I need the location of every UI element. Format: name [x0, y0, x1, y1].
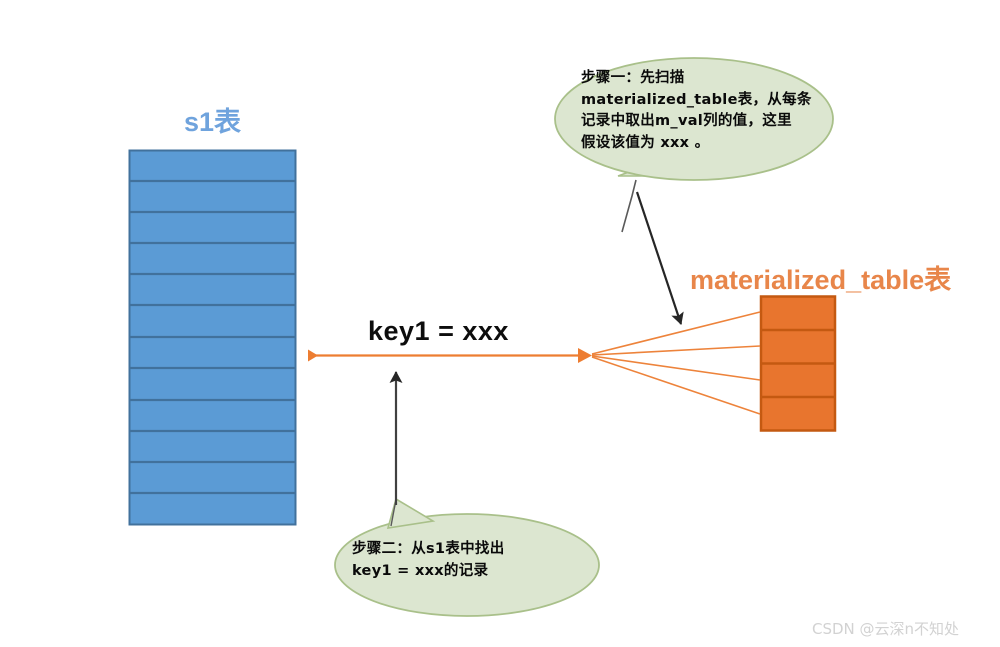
- table-s1-title: s1表: [129, 100, 296, 139]
- watermark: CSDN @云深n不知处: [812, 618, 959, 639]
- table-materialized: [761, 297, 835, 431]
- callout-step-one-text: 步骤一：先扫描 materialized_table表，从每条 记录中取出m_v…: [581, 68, 812, 154]
- diagram-canvas: s1表 materialized_table表 key1 = xxx 步骤一：先…: [0, 0, 1000, 647]
- orange-fan-lines: [592, 312, 760, 414]
- orange-relation-arrow: [308, 348, 592, 363]
- black-arrow-step-one: [637, 192, 681, 324]
- callout-step-two-text: 步骤二：从s1表中找出 key1 = xxx的记录: [352, 539, 505, 582]
- table-s1: [130, 151, 296, 525]
- table-materialized-title: materialized_table表: [690, 258, 951, 297]
- relation-condition-label: key1 = xxx: [368, 316, 509, 347]
